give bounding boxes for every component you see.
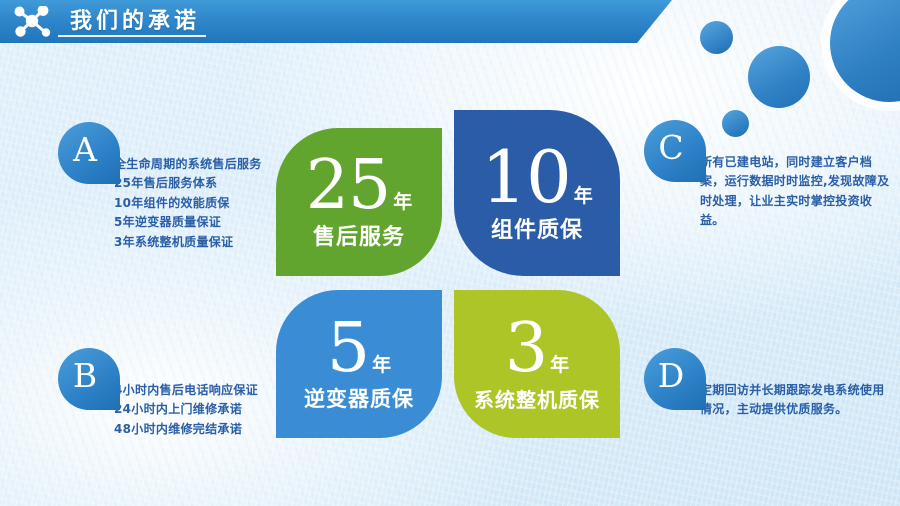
deco-circle-large-top-right-icon <box>830 0 900 102</box>
petal-number: 25 <box>306 155 391 218</box>
petal-number-row: 5 年 <box>327 318 391 381</box>
info-line: 24小时内上门维修承诺 <box>114 400 258 419</box>
info-line: 4小时内售后电话响应保证 <box>114 381 258 400</box>
slide-canvas: 我们的承诺 25 年 售后服务 10 年 组件质保 5 年 逆变器质保 <box>0 0 900 506</box>
info-block-d: D 定期回访并长期跟踪发电系统使用情况，主动提供优质服务。 <box>644 348 894 420</box>
molecule-icon <box>10 6 56 38</box>
warranty-petal-group: 25 年 售后服务 10 年 组件质保 5 年 逆变器质保 3 年 系统整机 <box>276 128 620 438</box>
info-line: 10年组件的效能质保 <box>114 194 262 213</box>
info-line: 48小时内维修完结承诺 <box>114 420 258 439</box>
title-underline <box>58 35 206 37</box>
petal-number-row: 25 年 <box>306 155 413 218</box>
header-banner: 我们的承诺 <box>0 0 672 43</box>
page-title: 我们的承诺 <box>70 11 200 33</box>
petal-number: 3 <box>505 318 547 381</box>
info-block-b-lines: 4小时内售后电话响应保证 24小时内上门维修承诺 48小时内维修完结承诺 <box>114 381 258 439</box>
badge-a-letter: A <box>73 133 97 166</box>
badge-d: D <box>644 348 706 410</box>
petal-unit: 年 <box>574 187 593 206</box>
petal-unit: 年 <box>372 356 391 375</box>
petal-module-warranty[interactable]: 10 年 组件质保 <box>454 110 620 276</box>
info-block-c: C 所有已建电站，同时建立客户档案，运行数据时时监控,发现故障及时处理，让业主实… <box>644 120 894 231</box>
badge-d-letter: D <box>658 359 684 392</box>
petal-unit: 年 <box>550 356 569 375</box>
petal-label: 系统整机质保 <box>474 390 600 410</box>
info-line: 全生命周期的系统售后服务 <box>114 155 262 174</box>
badge-c: C <box>644 120 706 182</box>
petal-system-warranty[interactable]: 3 年 系统整机质保 <box>454 290 620 438</box>
info-block-d-text: 定期回访并长期跟踪发电系统使用情况，主动提供优质服务。 <box>700 381 894 420</box>
badge-a: A <box>58 122 120 184</box>
petal-label: 逆变器质保 <box>304 389 414 410</box>
info-block-b: B 4小时内售后电话响应保证 24小时内上门维修承诺 48小时内维修完结承诺 <box>58 348 258 439</box>
info-line: 3年系统整机质量保证 <box>114 233 262 252</box>
petal-number-row: 3 年 <box>505 318 569 381</box>
petal-label: 售后服务 <box>313 227 405 249</box>
info-block-a-lines: 全生命周期的系统售后服务 25年售后服务体系 10年组件的效能质保 5年逆变器质… <box>114 155 262 252</box>
petal-label: 组件质保 <box>491 220 583 242</box>
header-banner-content: 我们的承诺 <box>0 6 200 38</box>
petal-unit: 年 <box>393 193 412 212</box>
deco-circle-medium-icon <box>748 46 810 108</box>
info-block-a: A 全生命周期的系统售后服务 25年售后服务体系 10年组件的效能质保 5年逆变… <box>58 122 262 252</box>
petal-number-row: 10 年 <box>481 144 593 210</box>
badge-b: B <box>58 348 120 410</box>
info-line: 5年逆变器质量保证 <box>114 213 262 232</box>
info-line: 25年售后服务体系 <box>114 174 262 193</box>
petal-inverter-warranty[interactable]: 5 年 逆变器质保 <box>276 290 442 438</box>
badge-b-letter: B <box>73 359 97 392</box>
badge-c-letter: C <box>658 131 683 164</box>
petal-number: 5 <box>327 318 369 381</box>
petal-after-sales-service[interactable]: 25 年 售后服务 <box>276 128 442 276</box>
petal-number: 10 <box>481 144 571 210</box>
info-block-c-text: 所有已建电站，同时建立客户档案，运行数据时时监控,发现故障及时处理，让业主实时掌… <box>700 153 894 231</box>
deco-circle-small-icon <box>700 21 733 54</box>
